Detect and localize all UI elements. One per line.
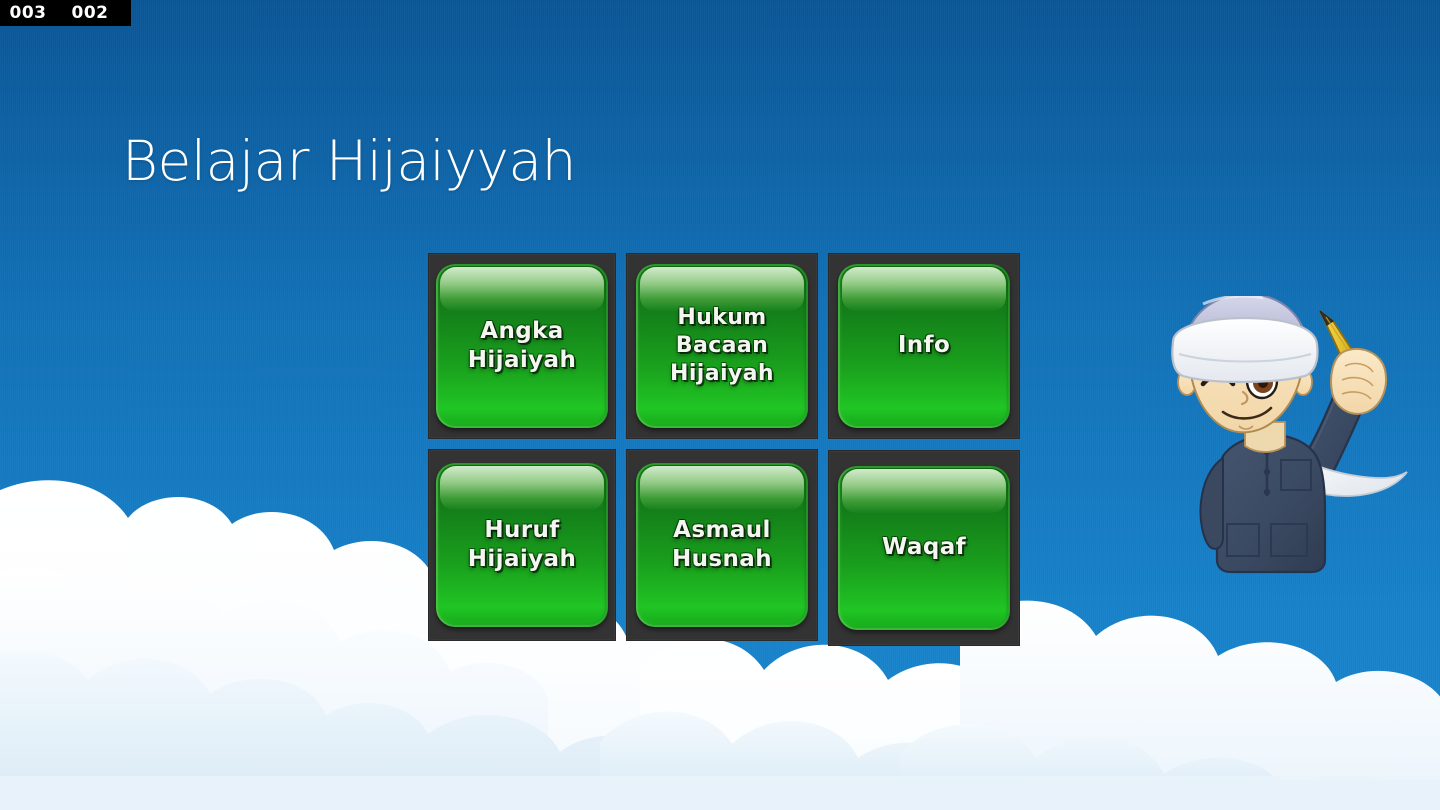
boy-with-pencil-mascot: [1145, 296, 1435, 601]
page-title: Belajar Hijaiyyah: [122, 134, 576, 189]
menu-tile-hukum-bacaan-hijaiyah[interactable]: Hukum Bacaan Hijaiyah: [626, 253, 818, 439]
menu-button-hukum-bacaan-hijaiyah[interactable]: Hukum Bacaan Hijaiyah: [636, 264, 808, 428]
fps-value-1: 003: [0, 3, 56, 23]
menu-button-label: Asmaul Husnah: [666, 516, 778, 575]
menu-tile-angka-hijaiyah[interactable]: Angka Hijaiyah: [428, 253, 616, 439]
menu-tile-huruf-hijaiyah[interactable]: Huruf Hijaiyah: [428, 449, 616, 641]
menu-button-angka-hijaiyah[interactable]: Angka Hijaiyah: [436, 264, 608, 428]
fps-value-2: 002: [62, 3, 118, 23]
menu-button-label: Waqaf: [876, 533, 972, 562]
menu-tile-info[interactable]: Info: [828, 253, 1020, 439]
mascot-hand: [1331, 349, 1386, 414]
menu-tile-waqaf[interactable]: Waqaf: [828, 450, 1020, 646]
menu-button-label: Info: [892, 331, 956, 360]
debug-fps-overlay: 003 002: [0, 0, 131, 26]
menu-button-asmaul-husnah[interactable]: Asmaul Husnah: [636, 463, 808, 627]
menu-tile-asmaul-husnah[interactable]: Asmaul Husnah: [626, 449, 818, 641]
mascot-body: [1200, 435, 1325, 572]
menu-button-info[interactable]: Info: [838, 264, 1010, 428]
menu-button-label: Huruf Hijaiyah: [462, 516, 583, 575]
menu-button-huruf-hijaiyah[interactable]: Huruf Hijaiyah: [436, 463, 608, 627]
app-screen: Belajar Hijaiyyah Angka Hijaiyah Hukum B…: [0, 0, 1440, 810]
menu-button-label: Hukum Bacaan Hijaiyah: [664, 304, 780, 388]
menu-button-label: Angka Hijaiyah: [462, 317, 583, 376]
mascot-svg: [1145, 296, 1435, 601]
mascot-turban: [1172, 296, 1317, 382]
menu-button-waqaf[interactable]: Waqaf: [838, 466, 1010, 630]
main-menu-grid: Angka Hijaiyah Hukum Bacaan Hijaiyah Inf…: [428, 253, 1020, 645]
